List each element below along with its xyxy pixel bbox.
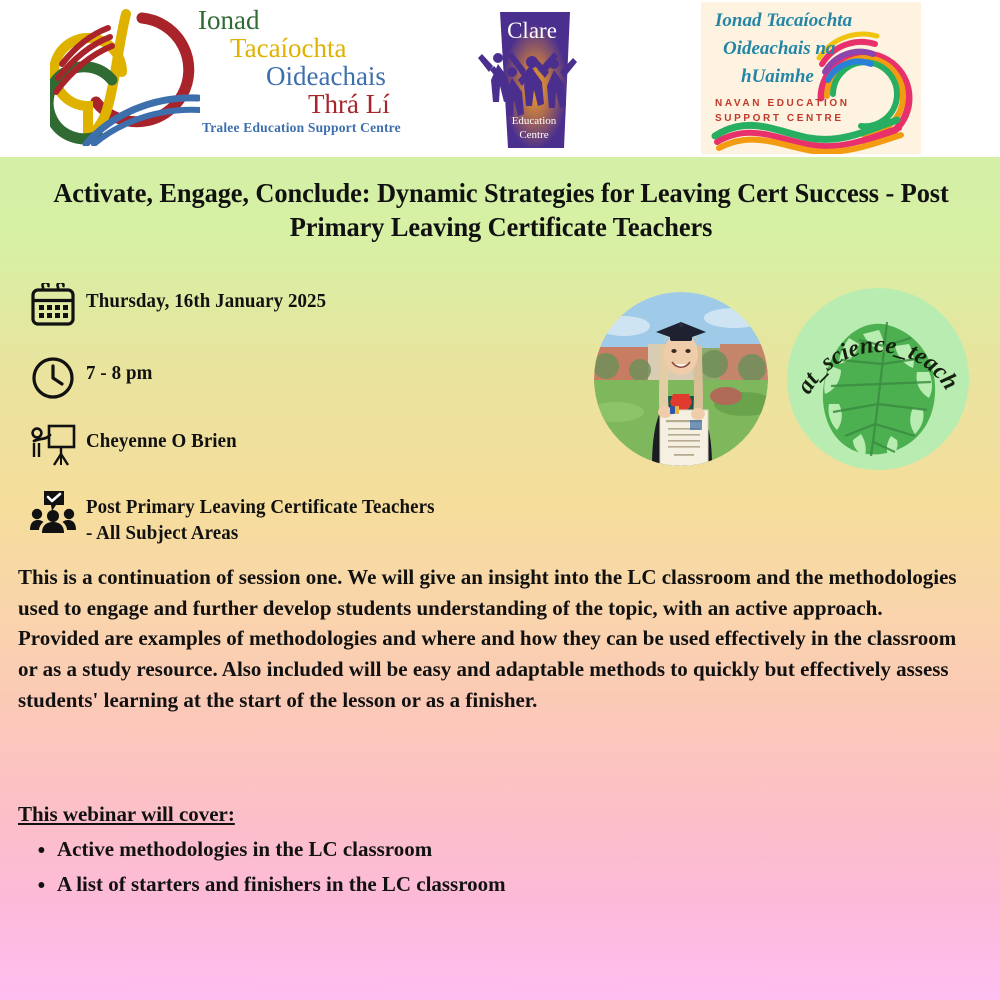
list-item: Active methodologies in the LC classroom	[57, 832, 935, 867]
clare-logo-line2: Education	[512, 115, 557, 127]
detail-row-date: Thursday, 16th January 2025	[30, 283, 570, 329]
calendar-icon	[30, 283, 86, 329]
logo-header-band: Ionad Tacaíochta Oideachais Thrá Lí Tral…	[0, 0, 1000, 157]
tralee-line-2: Tacaíochta	[188, 34, 438, 62]
presenter-icon	[30, 423, 86, 469]
detail-row-audience: Post Primary Leaving Certificate Teacher…	[30, 489, 570, 547]
tralee-line-3: Oideachais	[188, 62, 438, 90]
list-item: A list of starters and finishers in the …	[57, 867, 935, 902]
tralee-swirl-icon	[50, 6, 200, 146]
tralee-line-4: Thrá Lí	[188, 90, 438, 118]
tralee-education-centre-logo: Ionad Tacaíochta Oideachais Thrá Lí Tral…	[40, 4, 440, 156]
navan-education-centre-logo: Ionad Tacaíochta Oideachais na hUaimhe N…	[701, 2, 921, 154]
clare-logo-line3: Centre	[519, 129, 548, 141]
detail-label-audience: Post Primary Leaving Certificate Teacher…	[86, 489, 435, 547]
clare-logo-icon: Clare Education Centre	[478, 6, 586, 152]
navan-line-2: Oideachais na	[723, 38, 835, 60]
detail-row-presenter: Cheyenne O Brien	[30, 423, 570, 469]
navan-line-3: hUaimhe	[741, 66, 814, 88]
event-details-list: Thursday, 16th January 2025 7 - 8 pm	[30, 283, 570, 569]
tralee-line-1: Ionad	[188, 6, 438, 34]
cover-items-list: Active methodologies in the LC classroom…	[18, 832, 935, 902]
cover-heading: This webinar will cover:	[18, 802, 235, 827]
audience-icon	[30, 489, 86, 535]
graduation-photo-illustration	[594, 292, 768, 466]
monstera-leaf-icon: that_science_teacher	[787, 288, 969, 470]
clock-icon	[30, 355, 86, 401]
detail-label-time: 7 - 8 pm	[86, 355, 152, 387]
detail-label-date: Thursday, 16th January 2025	[86, 283, 326, 315]
navan-line-1: Ionad Tacaíochta	[715, 10, 852, 32]
detail-label-presenter: Cheyenne O Brien	[86, 423, 237, 455]
that-science-teacher-logo: that_science_teacher	[787, 288, 969, 470]
clare-logo-name: Clare	[507, 18, 557, 43]
tralee-subtitle: Tralee Education Support Centre	[188, 121, 438, 135]
webinar-poster: Ionad Tacaíochta Oideachais Thrá Lí Tral…	[0, 0, 1000, 1000]
page-title: Activate, Engage, Conclude: Dynamic Stra…	[41, 176, 961, 243]
detail-row-time: 7 - 8 pm	[30, 355, 570, 401]
navan-subtitle-1: NAVAN EDUCATION	[715, 98, 850, 109]
clare-education-centre-logo: Clare Education Centre	[478, 6, 586, 152]
presenter-photo	[594, 292, 768, 466]
navan-subtitle-2: SUPPORT CENTRE	[715, 113, 844, 124]
tralee-logo-text: Ionad Tacaíochta Oideachais Thrá Lí Tral…	[188, 6, 438, 135]
description-paragraph: This is a continuation of session one. W…	[18, 562, 962, 716]
